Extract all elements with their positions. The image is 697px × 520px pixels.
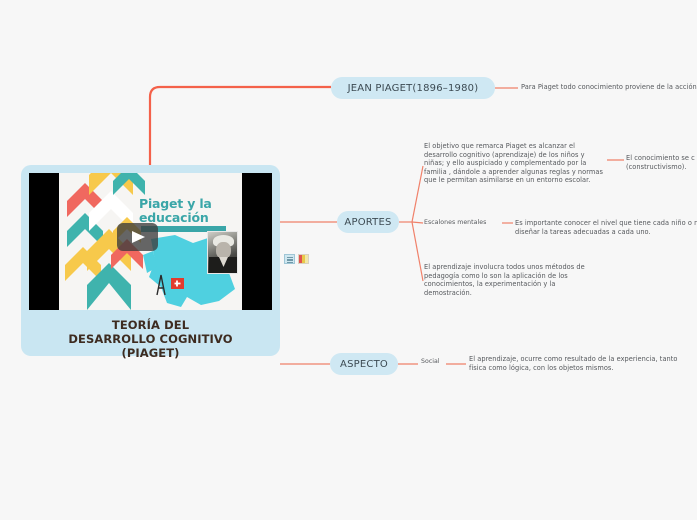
leaf-conocimiento[interactable]: El conocimiento se c (constructivismo). (626, 154, 697, 171)
leaf-experiencia[interactable]: El aprendizaje, ocurre como resultado de… (469, 355, 679, 372)
central-node[interactable]: Piaget y la educación (21, 165, 280, 356)
note-icon[interactable] (284, 254, 295, 264)
palette-icon[interactable] (298, 254, 309, 264)
slide-title: Piaget y la educación (139, 197, 239, 224)
central-node-title: TEORÍA DEL DESARROLLO COGNITIVO (PIAGET) (29, 318, 272, 360)
leaf-nivel-nino[interactable]: Es importante conocer el nivel que tiene… (515, 219, 697, 236)
leaf-objetivo[interactable]: El objetivo que remarca Piaget es alcanz… (424, 142, 604, 185)
leaf-escalones-mentales[interactable]: Escalones mentales (424, 219, 498, 227)
video-thumbnail[interactable]: Piaget y la educación (29, 173, 272, 310)
mindmap-canvas: Piaget y la educación (0, 0, 697, 520)
landmark-markers-icon (147, 269, 187, 297)
node-aspecto[interactable]: ASPECTO (330, 353, 398, 375)
leaf-piaget-note[interactable]: Para Piaget todo conocimiento proviene d… (521, 83, 697, 92)
node-jean-piaget[interactable]: JEAN PIAGET(1896–1980) (331, 77, 495, 99)
play-icon[interactable] (117, 223, 158, 251)
portrait-photo (207, 231, 238, 274)
node-aportes[interactable]: APORTES (337, 211, 399, 233)
leaf-social[interactable]: Social (421, 358, 461, 366)
leaf-aprendizaje[interactable]: El aprendizaje involucra todos unos méto… (424, 263, 604, 297)
node-badges (284, 254, 309, 264)
